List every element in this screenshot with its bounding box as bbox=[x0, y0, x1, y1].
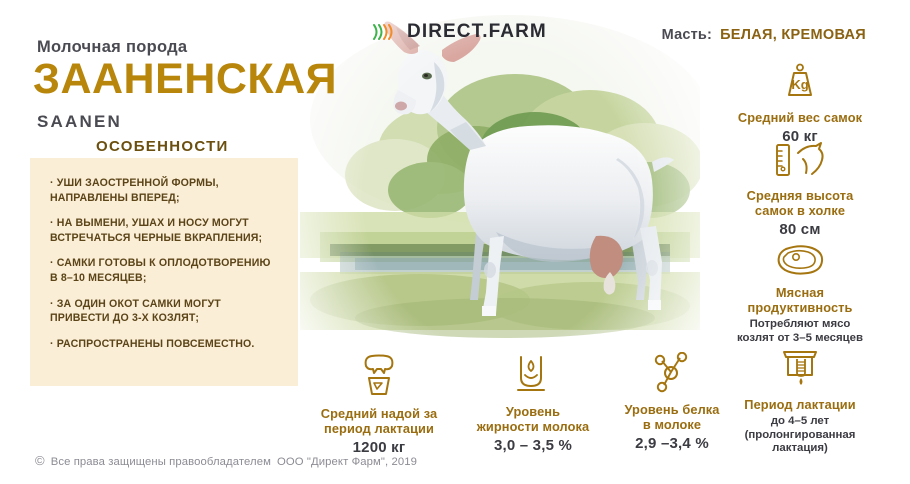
stat-title: Средняя высота самок в холке bbox=[700, 189, 900, 219]
stat-value: 2,9 –3,4 % bbox=[606, 435, 738, 453]
stat-meat-productivity: Мясная продуктивность Потребляют мясо ко… bbox=[700, 243, 900, 345]
stat-title: Средний вес самок bbox=[700, 111, 900, 126]
stat-title: Уровень белка в молоке bbox=[606, 403, 738, 433]
list-item: · ЗА ОДИН ОКОТ САМКИ МОГУТ ПРИВЕСТИ ДО 3… bbox=[50, 297, 282, 326]
copyright-owner: ООО "Директ Фарм", 2019 bbox=[277, 456, 417, 468]
stat-average-weight: Kg Средний вес самок 60 кг bbox=[700, 62, 900, 146]
list-item: · РАСПРОСТРАНЕНЫ ПОВСЕМЕСТНО. bbox=[50, 337, 282, 352]
footer-copyright: © Все права защищены правообладателем ОО… bbox=[35, 453, 417, 468]
coat-color-label: Масть: bbox=[662, 27, 712, 43]
molecule-icon bbox=[606, 352, 738, 399]
infographic-canvas: DIRECT.FARM Масть: БЕЛАЯ, КРЕМОВАЯ Молоч… bbox=[0, 0, 910, 484]
udder-bucket-icon bbox=[300, 352, 458, 403]
page-title: ЗААНЕНСКАЯ bbox=[33, 58, 337, 101]
weight-kg-icon: Kg bbox=[700, 62, 900, 107]
coat-color-line: Масть: БЕЛАЯ, КРЕМОВАЯ bbox=[662, 27, 866, 43]
milk-glass-drop-icon bbox=[458, 352, 608, 401]
features-heading: ОСОБЕННОСТИ bbox=[96, 138, 229, 155]
features-card: · УШИ ЗАОСТРЕННОЙ ФОРМЫ, НАПРАВЛЕНЫ ВПЕР… bbox=[30, 158, 298, 386]
list-item: · УШИ ЗАОСТРЕННОЙ ФОРМЫ, НАПРАВЛЕНЫ ВПЕР… bbox=[50, 176, 282, 205]
stat-title: Мясная продуктивность bbox=[700, 286, 900, 316]
stat-fat-level: Уровень жирности молока 3,0 – 3,5 % bbox=[458, 352, 608, 455]
list-item: · САМКИ ГОТОВЫ К ОПЛОДОТВОРЕНИЮ В 8–10 М… bbox=[50, 256, 282, 285]
stat-title: Уровень жирности молока bbox=[458, 405, 608, 435]
stat-value: 80 см bbox=[700, 221, 900, 239]
brand-logo[interactable]: DIRECT.FARM bbox=[372, 21, 547, 43]
coat-color-value: БЕЛАЯ, КРЕМОВАЯ bbox=[720, 27, 866, 43]
list-item: · НА ВЫМЕНИ, УШАХ И НОСУ МОГУТ ВСТРЕЧАТЬ… bbox=[50, 216, 282, 245]
svg-text:Kg: Kg bbox=[791, 77, 808, 92]
wave-chevron-icon bbox=[372, 22, 398, 42]
ruler-goat-icon bbox=[700, 140, 900, 185]
stat-title: Средний надой за период лактации bbox=[300, 407, 458, 437]
stat-milk-yield: Средний надой за период лактации 1200 кг bbox=[300, 352, 458, 457]
stat-protein-level: Уровень белка в молоке 2,9 –3,4 % bbox=[606, 352, 738, 453]
copyright-text: Все права защищены правообладателем bbox=[51, 456, 271, 468]
breed-latin-name: SAANEN bbox=[37, 112, 122, 132]
copyright-icon: © bbox=[35, 453, 45, 468]
stat-value: 3,0 – 3,5 % bbox=[458, 437, 608, 455]
stat-note: Потребляют мясо козлят от 3–5 месяцев bbox=[700, 318, 900, 345]
brand-logo-text: DIRECT.FARM bbox=[407, 21, 547, 43]
stat-withers-height: Средняя высота самок в холке 80 см bbox=[700, 140, 900, 239]
meat-steak-icon bbox=[700, 243, 900, 282]
